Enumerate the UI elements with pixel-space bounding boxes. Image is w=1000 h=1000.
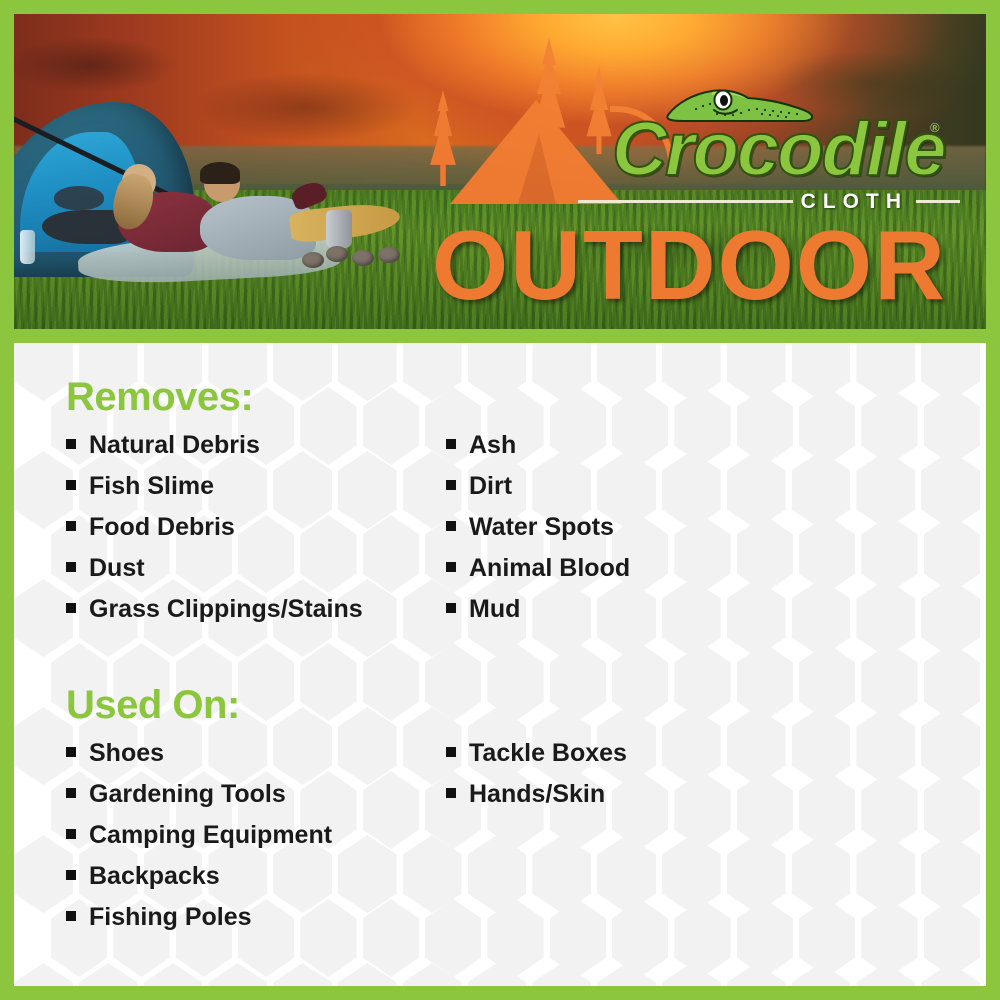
hat (54, 186, 104, 210)
hexagon-shape (79, 963, 138, 986)
list-item: Animal Blood (446, 556, 826, 581)
hexagon-shape (273, 963, 332, 986)
list-item-label: Grass Clippings/Stains (89, 597, 363, 622)
list-item: Ash (446, 433, 826, 458)
square-bullet-icon (66, 829, 76, 839)
list-item: Tackle Boxes (446, 741, 826, 766)
pine-tree-icon (420, 90, 466, 186)
list-item-label: Fishing Poles (89, 905, 252, 930)
hexagon-shape (208, 963, 267, 986)
list-item: Dust (66, 556, 446, 581)
hexagon-shape (144, 963, 203, 986)
list-item-label: Dirt (469, 474, 512, 499)
removes-left-column: Natural DebrisFish SlimeFood DebrisDustG… (66, 433, 446, 638)
square-bullet-icon (446, 521, 456, 531)
divider-line-left (578, 200, 793, 203)
list-item: Water Spots (446, 515, 826, 540)
brand-logo: Crocodile ® CLOTH (612, 86, 962, 216)
square-bullet-icon (66, 439, 76, 449)
list-item: Gardening Tools (66, 782, 446, 807)
hexagon-shape (468, 963, 527, 986)
list-item-label: Food Debris (89, 515, 235, 540)
square-bullet-icon (66, 480, 76, 490)
list-item-label: Camping Equipment (89, 823, 332, 848)
list-item: Camping Equipment (66, 823, 446, 848)
square-bullet-icon (66, 521, 76, 531)
square-bullet-icon (446, 480, 456, 490)
camping-scene (14, 14, 434, 329)
honeycomb-row (14, 963, 986, 986)
hexagon-shape (856, 963, 915, 986)
campfire-ring (302, 246, 414, 272)
list-item-label: Fish Slime (89, 474, 214, 499)
square-bullet-icon (446, 562, 456, 572)
brand-subtitle-row: CLOTH (578, 190, 960, 212)
list-item-label: Dust (89, 556, 145, 581)
square-bullet-icon (446, 788, 456, 798)
list-item-label: Shoes (89, 741, 164, 766)
hero-banner: Crocodile ® CLOTH OUTDOOR (14, 14, 986, 329)
square-bullet-icon (446, 603, 456, 613)
used-on-heading: Used On: (66, 685, 986, 725)
list-item: Hands/Skin (446, 782, 826, 807)
product-line-title: OUTDOOR (432, 216, 947, 314)
removes-heading: Removes: (66, 377, 986, 417)
details-panel: Removes: Natural DebrisFish SlimeFood De… (14, 343, 986, 986)
product-infographic-card: Crocodile ® CLOTH OUTDOOR Removes: Natur… (0, 0, 1000, 1000)
square-bullet-icon (446, 747, 456, 757)
hexagon-shape (338, 963, 397, 986)
square-bullet-icon (66, 870, 76, 880)
list-item: Dirt (446, 474, 826, 499)
brand-subtitle: CLOTH (801, 191, 908, 212)
hexagon-shape (792, 963, 851, 986)
camper-man-hair (200, 162, 240, 184)
list-item: Food Debris (66, 515, 446, 540)
hexagon-shape (14, 963, 73, 986)
list-item: Fish Slime (66, 474, 446, 499)
hexagon-shape (597, 963, 656, 986)
hexagon-shape (532, 963, 591, 986)
list-item-label: Water Spots (469, 515, 614, 540)
square-bullet-icon (66, 562, 76, 572)
registered-mark: ® (930, 120, 940, 135)
used-on-right-column: Tackle BoxesHands/Skin (446, 741, 826, 946)
used-on-columns: ShoesGardening ToolsCamping EquipmentBac… (66, 741, 986, 946)
list-item-label: Animal Blood (469, 556, 630, 581)
square-bullet-icon (66, 603, 76, 613)
camper-shoe (289, 178, 329, 211)
hexagon-shape (727, 963, 786, 986)
hexagon-shape (403, 963, 462, 986)
list-item-label: Backpacks (89, 864, 220, 889)
list-item-label: Ash (469, 433, 516, 458)
list-item: Natural Debris (66, 433, 446, 458)
hexagon-shape (921, 963, 980, 986)
list-item: Shoes (66, 741, 446, 766)
used-on-left-column: ShoesGardening ToolsCamping EquipmentBac… (66, 741, 446, 946)
removes-right-column: AshDirtWater SpotsAnimal BloodMud (446, 433, 826, 638)
list-item: Fishing Poles (66, 905, 446, 930)
panel-content: Removes: Natural DebrisFish SlimeFood De… (14, 343, 986, 946)
list-item-label: Natural Debris (89, 433, 260, 458)
camp-kettle (326, 210, 352, 248)
divider-line-right (916, 200, 960, 203)
square-bullet-icon (66, 747, 76, 757)
list-item: Backpacks (66, 864, 446, 889)
list-item-label: Gardening Tools (89, 782, 286, 807)
square-bullet-icon (66, 788, 76, 798)
list-item-label: Tackle Boxes (469, 741, 627, 766)
hexagon-shape (662, 963, 721, 986)
list-item-label: Hands/Skin (469, 782, 605, 807)
list-item: Mud (446, 597, 826, 622)
brand-name: Crocodile (612, 112, 945, 188)
square-bullet-icon (446, 439, 456, 449)
list-item: Grass Clippings/Stains (66, 597, 446, 622)
list-item-label: Mud (469, 597, 520, 622)
water-bottle (20, 230, 35, 264)
removes-columns: Natural DebrisFish SlimeFood DebrisDustG… (66, 433, 986, 638)
square-bullet-icon (66, 911, 76, 921)
